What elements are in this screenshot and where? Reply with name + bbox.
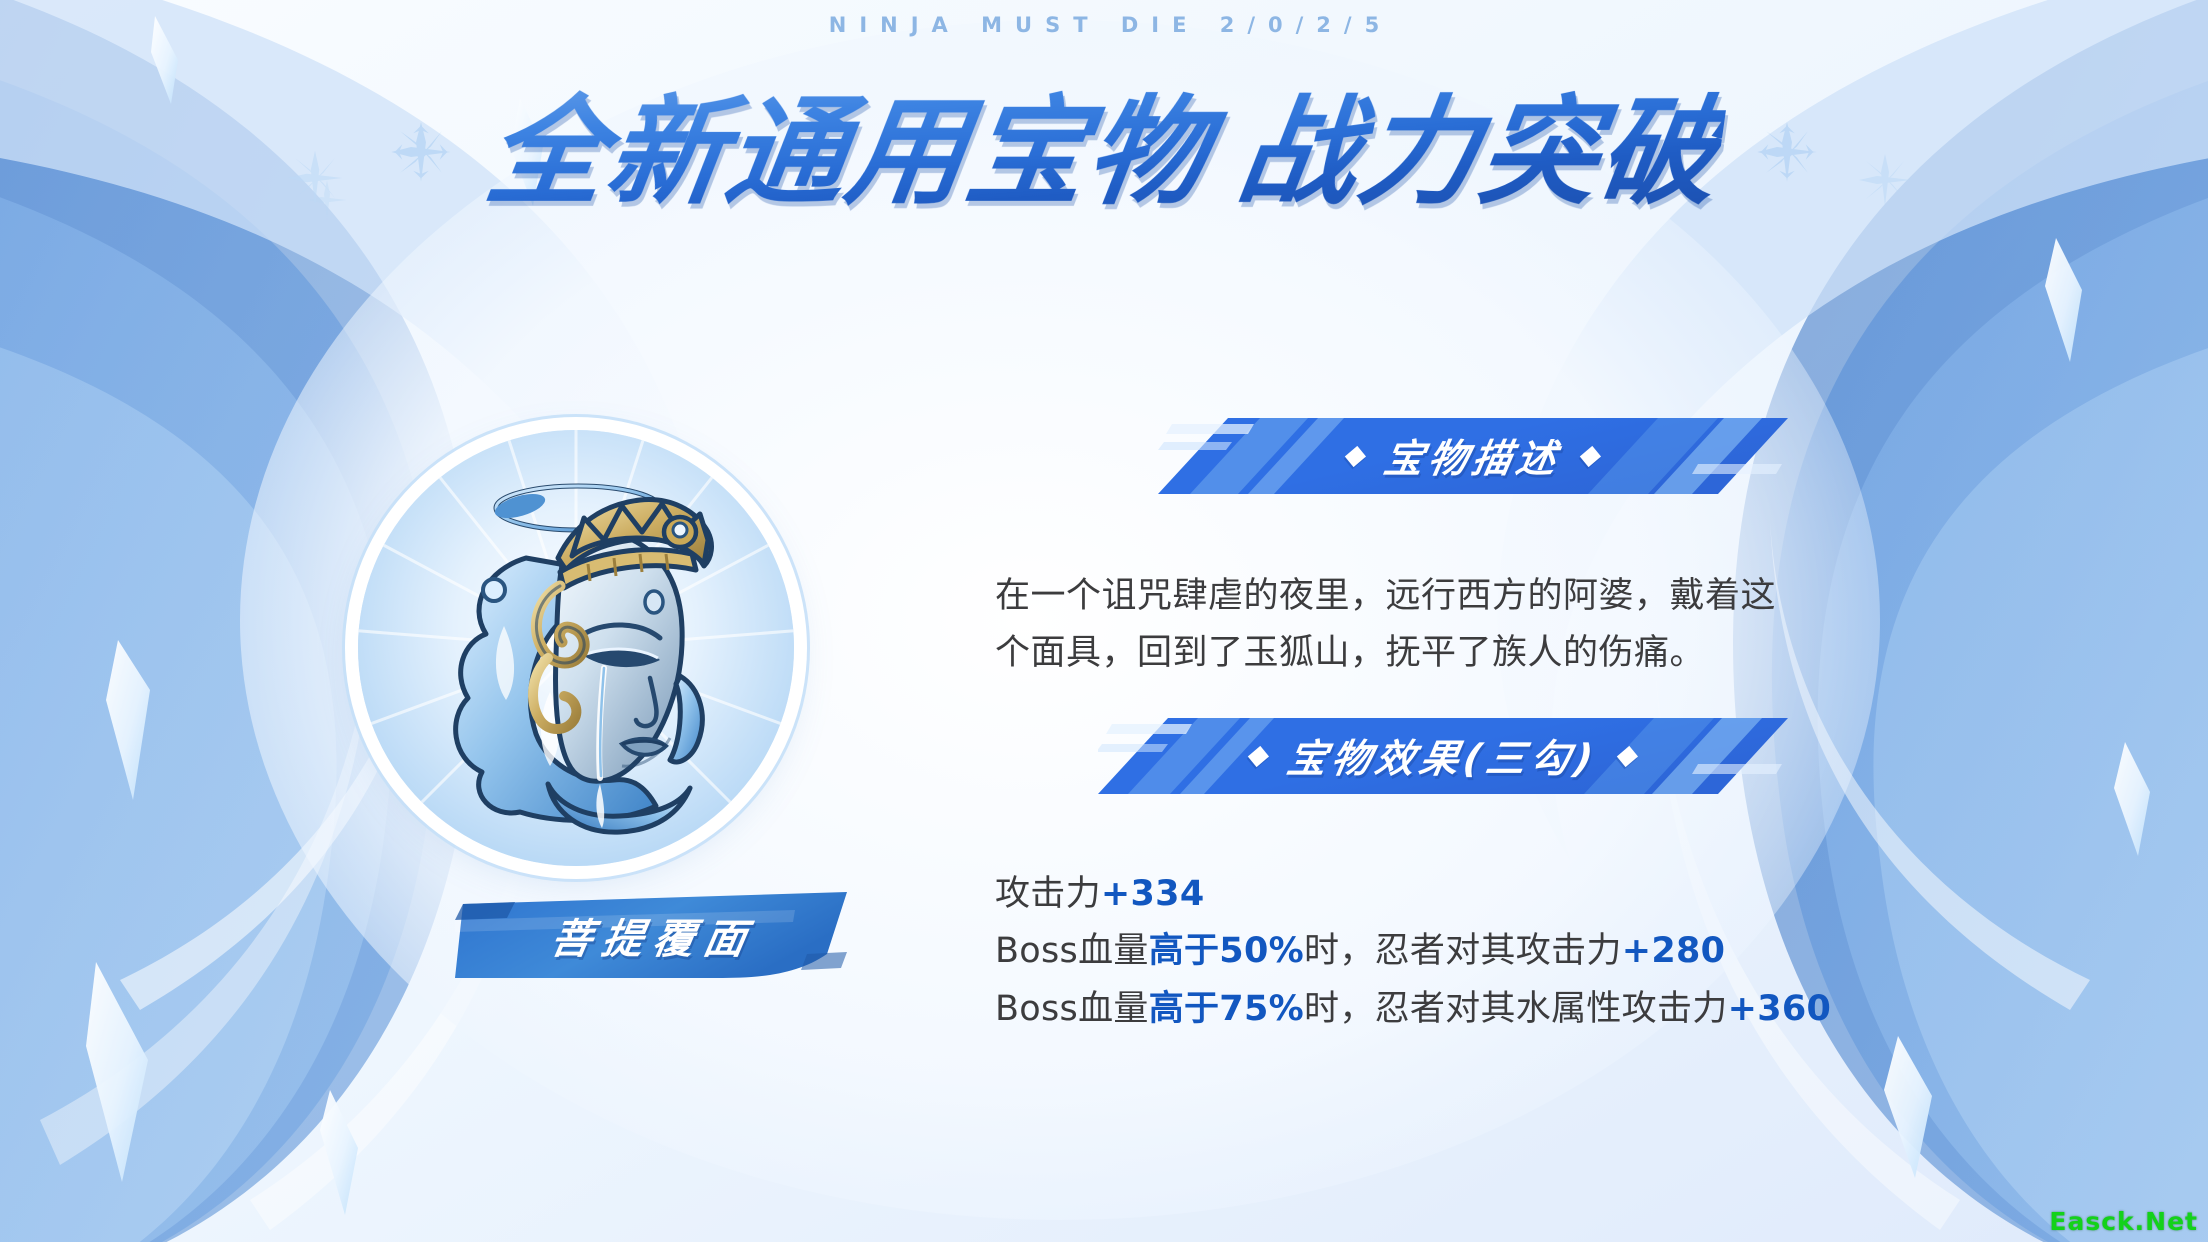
item-name-label: 菩提覆面 xyxy=(441,892,856,978)
section-title-text: 宝物描述 xyxy=(1380,428,1566,484)
page-title-part-2: 战力突破 xyxy=(1230,83,1729,221)
effect-line-3-mid: 时，忍者对其水属性攻击力 xyxy=(1304,989,1728,1029)
snowflake-icon xyxy=(388,119,454,185)
effect-line-2: Boss血量高于50%时，忍者对其攻击力+280 xyxy=(995,923,1875,980)
buddha-mask-artwork xyxy=(408,466,758,836)
effect-line-1-pre: 攻击力 xyxy=(995,874,1101,914)
effect-line-3-pre: Boss血量 xyxy=(995,989,1149,1029)
page-title-part-1: 全新通用宝物 xyxy=(478,83,1217,221)
description-text: 在一个诅咒肆虐的夜里，远行西方的阿婆，戴着这 个面具，回到了玉狐山，抚平了族人的… xyxy=(995,568,1835,681)
description-line-1: 在一个诅咒肆虐的夜里，远行西方的阿婆，戴着这 xyxy=(995,568,1835,625)
page-caption: NINJA MUST DIE 2/0/2/5 xyxy=(0,13,2208,37)
effect-line-2-pre: Boss血量 xyxy=(995,931,1149,971)
effect-text: 攻击力+334 Boss血量高于50%时，忍者对其攻击力+280 Boss血量高… xyxy=(995,866,1875,1038)
effect-line-3-condition: 高于75% xyxy=(1149,989,1304,1029)
effect-line-2-mid: 时，忍者对其攻击力 xyxy=(1304,931,1622,971)
effect-line-1-value: +334 xyxy=(1101,874,1205,914)
section-title-text: 宝物效果(三勾) xyxy=(1283,728,1603,784)
description-line-2: 个面具，回到了玉狐山，抚平了族人的伤痛。 xyxy=(995,625,1835,682)
item-artwork-badge xyxy=(358,430,794,866)
effect-line-1: 攻击力+334 xyxy=(995,866,1875,923)
diamond-icon xyxy=(1617,745,1638,766)
effect-line-3: Boss血量高于75%时，忍者对其水属性攻击力+360 xyxy=(995,981,1875,1038)
site-watermark: Easck.Net xyxy=(2049,1207,2198,1236)
diamond-icon xyxy=(1580,445,1601,466)
diamond-icon xyxy=(1345,445,1366,466)
section-title-row: 宝物效果(三勾) xyxy=(1091,718,1794,794)
hero-title-row: 全新通用宝物战力突破 xyxy=(0,84,2208,221)
item-name-ribbon: 菩提覆面 xyxy=(455,892,855,978)
effect-line-2-condition: 高于50% xyxy=(1149,931,1304,971)
section-header-description: 宝物描述 xyxy=(1158,418,1788,494)
snowflake-icon xyxy=(1754,119,1820,185)
section-header-effect: 宝物效果(三勾) xyxy=(1098,718,1788,794)
effect-line-2-value: +280 xyxy=(1622,931,1726,971)
page-title: 全新通用宝物战力突破 xyxy=(478,84,1729,221)
section-title-row: 宝物描述 xyxy=(1151,418,1794,494)
effect-line-3-value: +360 xyxy=(1728,989,1832,1029)
promo-banner-page: NINJA MUST DIE 2/0/2/5 全新通用宝物战力突破 xyxy=(0,0,2208,1242)
diamond-icon xyxy=(1248,745,1269,766)
